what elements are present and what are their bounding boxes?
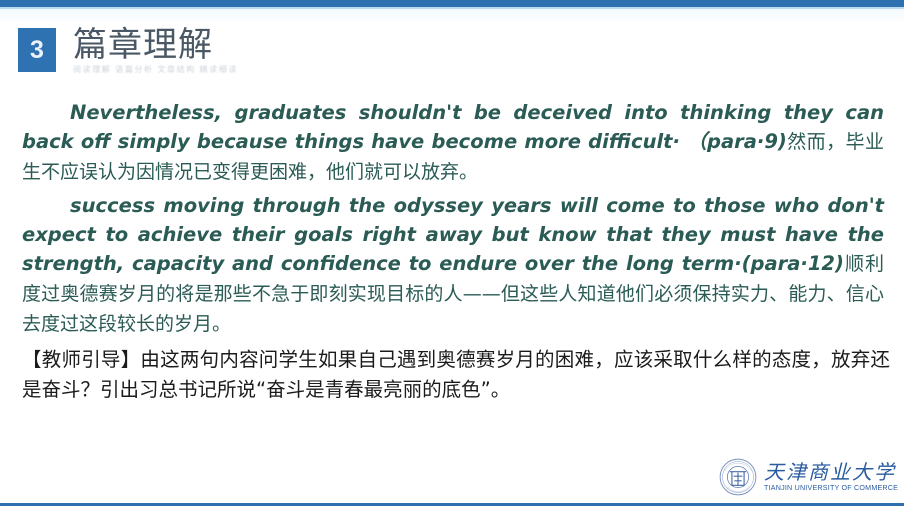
slide-header: 3 篇章理解 阅读理解 语篇分析 文章结构 精读细读 xyxy=(18,28,238,77)
top-gradient-fade xyxy=(0,9,904,23)
university-name-cn: 天津商业大学 xyxy=(764,462,896,482)
passage-1-english: Nevertheless, graduates shouldn't be dec… xyxy=(22,101,884,153)
bottom-margin-fill xyxy=(0,506,904,512)
passage-2-english: success moving through the odyssey years… xyxy=(22,194,884,275)
university-name-en: TIANJIN UNIVERSITY OF COMMERCE xyxy=(764,485,899,492)
passage-paragraph-2: success moving through the odyssey years… xyxy=(22,191,884,339)
section-number-badge: 3 xyxy=(18,28,56,72)
top-accent-bar xyxy=(0,0,904,7)
university-logo-text: 天津商业大学 TIANJIN UNIVERSITY OF COMMERCE xyxy=(764,462,896,492)
passage-paragraph-1: Nevertheless, graduates shouldn't be dec… xyxy=(22,98,884,187)
teacher-guidance-block: 【教师引导】由这两句内容问学生如果自己遇到奥德赛岁月的困难，应该采取什么样的态度… xyxy=(22,345,890,405)
header-text-group: 篇章理解 阅读理解 语篇分析 文章结构 精读细读 xyxy=(73,26,238,75)
university-logo: 天津商业大学 TIANJIN UNIVERSITY OF COMMERCE xyxy=(719,458,896,496)
teacher-guidance-label: 【教师引导】 xyxy=(22,348,140,371)
teacher-guidance-text: 由这两句内容问学生如果自己遇到奥德赛岁月的困难，应该采取什么样的态度，放弃还是奋… xyxy=(22,348,890,401)
university-emblem-icon xyxy=(719,458,757,496)
reading-passage-block: Nevertheless, graduates shouldn't be dec… xyxy=(22,98,884,339)
page-title: 篇章理解 xyxy=(73,26,238,64)
presentation-slide: 3 篇章理解 阅读理解 语篇分析 文章结构 精读细读 Nevertheless,… xyxy=(0,0,904,512)
page-subtitle: 阅读理解 语篇分析 文章结构 精读细读 xyxy=(73,65,238,75)
